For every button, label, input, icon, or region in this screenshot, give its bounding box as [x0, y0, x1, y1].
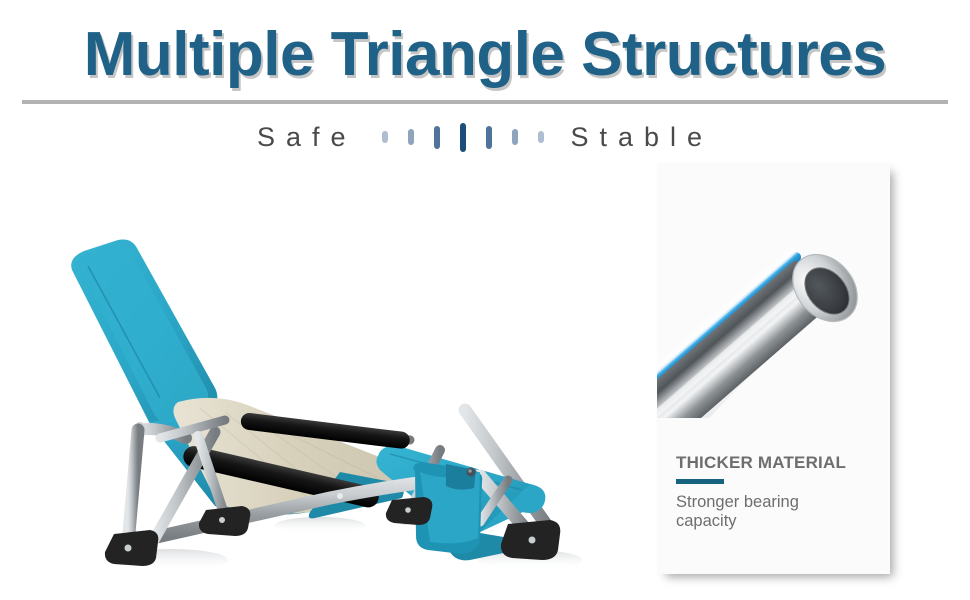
- tube-photo: [657, 163, 890, 418]
- inset-feature-panel: THICKER MATERIAL Stronger bearing capaci…: [657, 163, 890, 574]
- promo-banner: Multiple Triangle Structures Safe Stable: [0, 0, 970, 600]
- panel-caption-block: THICKER MATERIAL Stronger bearing capaci…: [676, 453, 876, 531]
- panel-subtext: Stronger bearing capacity: [676, 493, 836, 531]
- page-title: Multiple Triangle Structures: [0, 24, 970, 86]
- product-photo-chair: [10, 120, 630, 590]
- title-divider: [22, 100, 948, 104]
- panel-heading: THICKER MATERIAL: [676, 453, 876, 473]
- panel-accent-rule: [676, 479, 724, 484]
